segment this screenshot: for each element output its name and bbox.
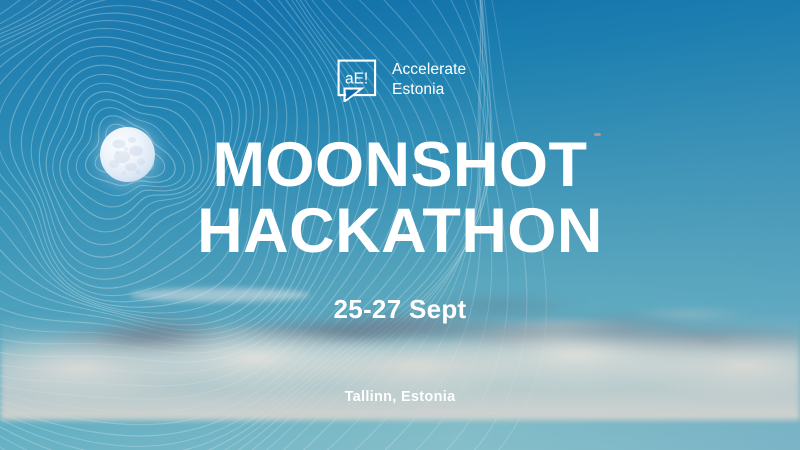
title-line-1: MOONSHOT xyxy=(0,133,800,199)
accelerate-estonia-logo[interactable]: aE! Accelerate Estonia xyxy=(336,58,466,102)
svg-text:aE!: aE! xyxy=(345,71,368,88)
logo-name-line2: Estonia xyxy=(392,81,444,98)
event-location: Tallinn, Estonia xyxy=(0,389,800,405)
logo-name-line1: Accelerate xyxy=(392,61,466,78)
speech-bubble-square-icon: aE! xyxy=(336,58,378,102)
title-line-2: HACKATHON xyxy=(0,199,800,265)
page-title: MOONSHOT HACKATHON xyxy=(0,133,800,264)
event-dates: 25-27 Sept xyxy=(0,294,800,325)
logo-wordmark: Accelerate Estonia xyxy=(392,60,466,100)
poster-canvas: aE! Accelerate Estonia MOONSHOT HACKATHO… xyxy=(0,0,800,450)
